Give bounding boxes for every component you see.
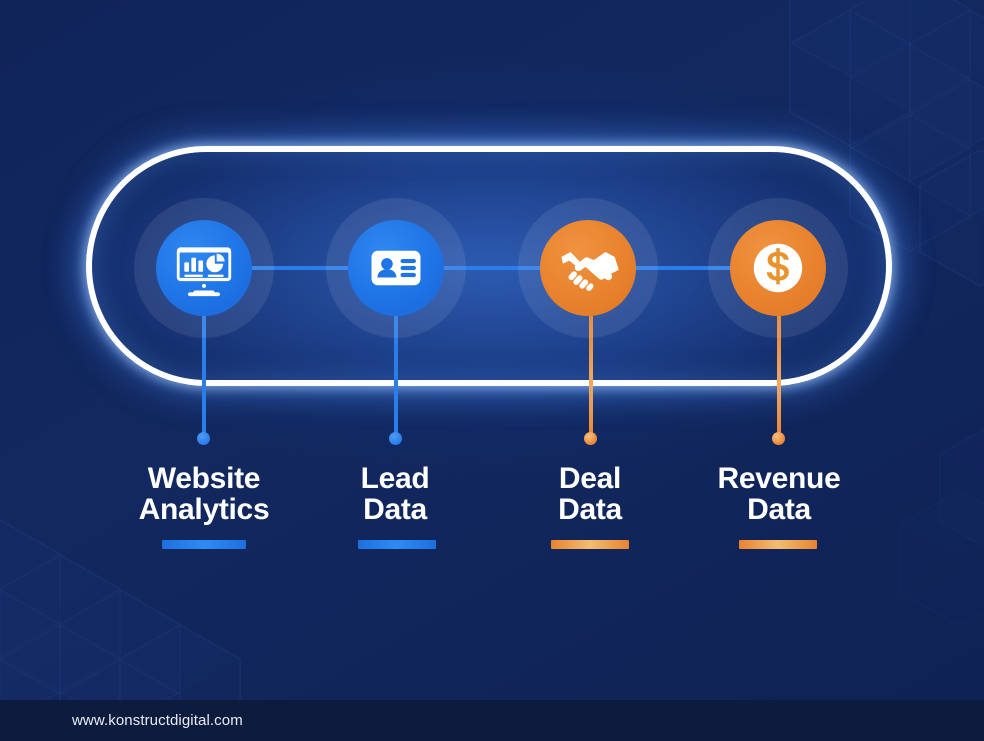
node-deal-data[interactable] — [540, 220, 636, 316]
dollar-coin-icon — [747, 237, 809, 299]
node-disc — [730, 220, 826, 316]
underline-bar-website-analytics — [162, 540, 246, 549]
node-revenue-data[interactable] — [730, 220, 826, 316]
node-disc — [156, 220, 252, 316]
node-disc — [348, 220, 444, 316]
node-disc — [540, 220, 636, 316]
underline-bar-lead-data — [358, 540, 436, 549]
handshake-icon — [557, 237, 619, 299]
underline-bar-deal-data — [551, 540, 629, 549]
drop-dot-revenue-data — [772, 432, 785, 445]
monitor-analytics-icon — [174, 238, 234, 298]
infographic-canvas: Website Analytics Lead Data — [0, 0, 984, 741]
drop-dot-deal-data — [584, 432, 597, 445]
underline-bar-revenue-data — [739, 540, 817, 549]
footer-bar: www.konstructdigital.com — [0, 700, 984, 741]
footer-website-url: www.konstructdigital.com — [72, 712, 243, 729]
node-lead-data[interactable] — [348, 220, 444, 316]
id-card-icon — [367, 239, 425, 297]
node-website-analytics[interactable] — [156, 220, 252, 316]
label-deal-data: Deal Data — [480, 463, 700, 525]
drop-dot-website-analytics — [197, 432, 210, 445]
drop-dot-lead-data — [389, 432, 402, 445]
label-lead-data: Lead Data — [284, 463, 506, 525]
label-revenue-data: Revenue Data — [668, 463, 890, 525]
